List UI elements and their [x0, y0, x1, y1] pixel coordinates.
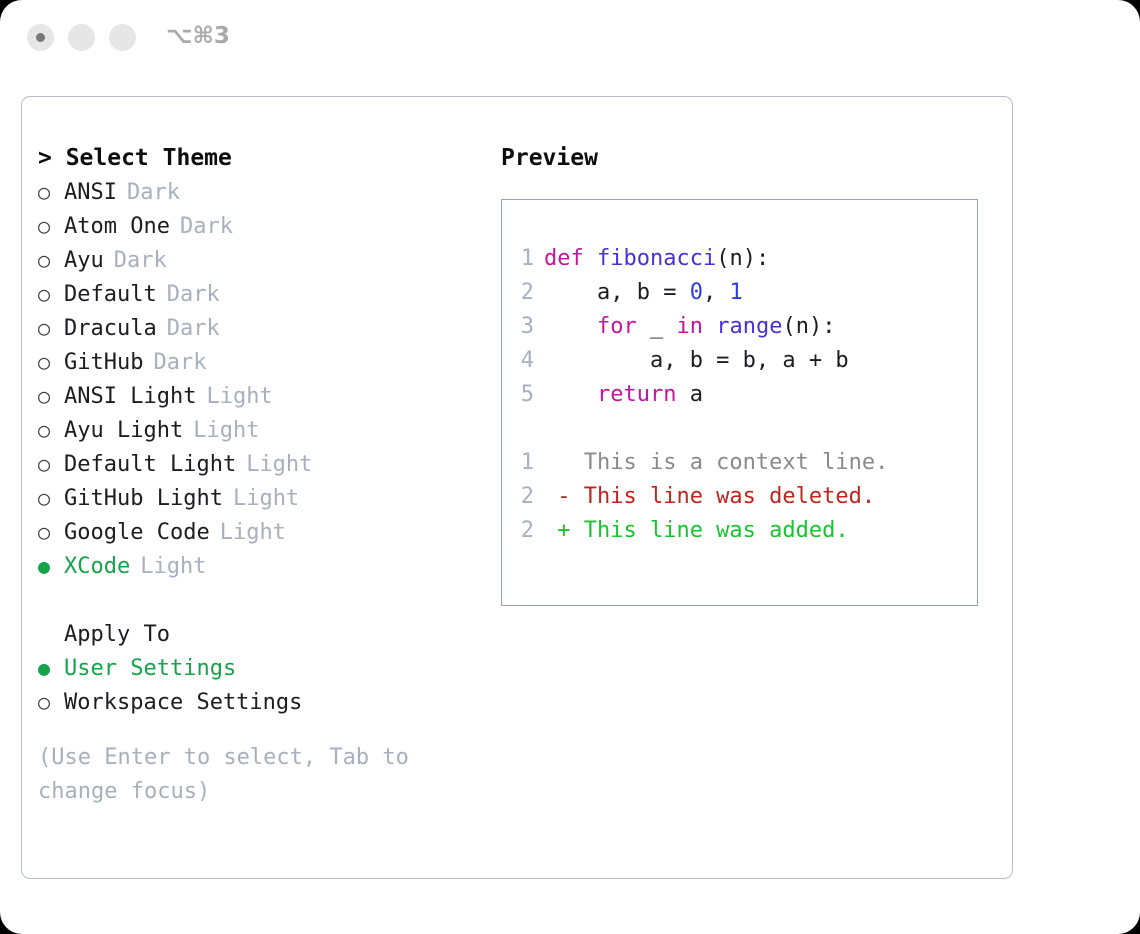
line-number: 2 — [502, 276, 544, 310]
apply-to-label: User Settings — [64, 652, 236, 686]
theme-name-label: GitHub — [64, 346, 143, 380]
code-token-plain: a, b = b, a + b — [544, 348, 849, 373]
line-number: 2 — [502, 514, 544, 548]
theme-category-tag: Dark — [167, 312, 220, 346]
code-token-kw: in — [676, 314, 703, 339]
radio-unselected-icon: ○ — [38, 481, 64, 515]
diff-sample: 1 This is a context line.2 - This line w… — [502, 446, 977, 548]
theme-name-label: Google Code — [64, 516, 210, 550]
code-token-add: + This line was added. — [544, 518, 849, 543]
theme-name-label: Ayu — [64, 244, 104, 278]
theme-category-tag: Dark — [180, 210, 233, 244]
radio-unselected-icon: ○ — [38, 209, 64, 243]
code-token-plain: , — [703, 280, 730, 305]
theme-name-label: ANSI — [64, 176, 117, 210]
code-token-plain: (n): — [782, 314, 835, 339]
code-line-text: a, b = 0, 1 — [544, 276, 743, 310]
apply-to-list-item[interactable]: ●User Settings — [38, 651, 488, 685]
code-token-kw: def — [544, 246, 597, 271]
radio-selected-icon: ● — [38, 651, 64, 685]
code-token-num: 0 — [690, 280, 703, 305]
theme-list-item[interactable]: ○Default LightLight — [38, 447, 488, 481]
code-token-fn: fibonacci — [597, 246, 716, 271]
theme-name-label: ANSI Light — [64, 380, 196, 414]
theme-list-item[interactable]: ○GitHubDark — [38, 345, 488, 379]
theme-settings-card: > Select Theme ○ANSIDark○Atom OneDark○Ay… — [21, 96, 1013, 879]
theme-list: ○ANSIDark○Atom OneDark○AyuDark○DefaultDa… — [38, 175, 488, 583]
code-token-plain: a, b = — [544, 280, 690, 305]
theme-category-tag: Dark — [127, 176, 180, 210]
radio-unselected-icon: ○ — [38, 277, 64, 311]
theme-list-item[interactable]: ○AyuDark — [38, 243, 488, 277]
theme-list-item[interactable]: ○ANSI LightLight — [38, 379, 488, 413]
line-number: 4 — [502, 344, 544, 378]
line-number: 2 — [502, 480, 544, 514]
list-spacer — [38, 583, 488, 617]
theme-list-item[interactable]: ○GitHub LightLight — [38, 481, 488, 515]
traffic-light-buttons — [27, 24, 136, 51]
apply-to-label: Workspace Settings — [64, 686, 302, 720]
theme-list-item[interactable]: ○Google CodeLight — [38, 515, 488, 549]
radio-selected-icon: ● — [38, 549, 64, 583]
theme-list-item[interactable]: ○DraculaDark — [38, 311, 488, 345]
code-token-ctx: This is a context line. — [544, 450, 888, 475]
theme-name-label: Default Light — [64, 448, 236, 482]
code-token-fn: range — [716, 314, 782, 339]
theme-category-tag: Light — [140, 550, 206, 584]
radio-unselected-icon: ○ — [38, 685, 64, 719]
code-token-plain: _ — [637, 314, 677, 339]
radio-unselected-icon: ○ — [38, 311, 64, 345]
diff-line: 2 + This line was added. — [502, 514, 977, 548]
code-token-plain — [544, 382, 597, 407]
apply-to-header-label: Apply To — [64, 618, 170, 652]
keyboard-shortcut-label: ⌥⌘3 — [166, 23, 230, 49]
code-token-kw: for — [597, 314, 637, 339]
code-line-text: a, b = b, a + b — [544, 344, 849, 378]
theme-list-item[interactable]: ○Ayu LightLight — [38, 413, 488, 447]
theme-name-label: Atom One — [64, 210, 170, 244]
theme-name-label: Default — [64, 278, 157, 312]
preview-code-box: 1def fibonacci(n):2 a, b = 0, 13 for _ i… — [501, 199, 978, 606]
apply-to-list: ●User Settings○Workspace Settings — [38, 651, 488, 719]
line-number: 1 — [502, 242, 544, 276]
theme-name-label: Dracula — [64, 312, 157, 346]
code-sample: 1def fibonacci(n):2 a, b = 0, 13 for _ i… — [502, 242, 977, 412]
code-line: 2 a, b = 0, 1 — [502, 276, 977, 310]
close-dot-center — [36, 33, 45, 42]
code-token-plain — [544, 314, 597, 339]
radio-unselected-icon: ○ — [38, 515, 64, 549]
code-token-del: - This line was deleted. — [544, 484, 875, 509]
code-line: 5 return a — [502, 378, 977, 412]
code-token-kw: return — [597, 382, 676, 407]
apply-to-header: ○ Apply To — [38, 617, 488, 651]
theme-category-tag: Dark — [167, 278, 220, 312]
theme-list-item[interactable]: ○ANSIDark — [38, 175, 488, 209]
preview-title: Preview — [501, 141, 1001, 175]
radio-unselected-icon: ○ — [38, 175, 64, 209]
apply-to-list-item[interactable]: ○Workspace Settings — [38, 685, 488, 719]
select-theme-header: > Select Theme — [38, 141, 488, 175]
code-line: 3 for _ in range(n): — [502, 310, 977, 344]
code-line: 1def fibonacci(n): — [502, 242, 977, 276]
code-line-text: + This line was added. — [544, 514, 849, 548]
code-token-plain: (n): — [716, 246, 769, 271]
code-token-plain — [703, 314, 716, 339]
title-bar: ⌥⌘3 — [0, 0, 1140, 78]
theme-category-tag: Light — [233, 482, 299, 516]
apply-to-bullet-placeholder: ○ — [38, 617, 64, 651]
diff-line: 2 - This line was deleted. — [502, 480, 977, 514]
theme-category-tag: Light — [220, 516, 286, 550]
theme-list-item[interactable]: ○DefaultDark — [38, 277, 488, 311]
theme-name-label: GitHub Light — [64, 482, 223, 516]
theme-list-item[interactable]: ●XCodeLight — [38, 549, 488, 583]
diff-line: 1 This is a context line. — [502, 446, 977, 480]
code-line-text: for _ in range(n): — [544, 310, 835, 344]
line-number: 3 — [502, 310, 544, 344]
radio-unselected-icon: ○ — [38, 379, 64, 413]
preview-column: Preview 1def fibonacci(n):2 a, b = 0, 13… — [501, 141, 1001, 606]
code-line: 4 a, b = b, a + b — [502, 344, 977, 378]
line-number: 1 — [502, 446, 544, 480]
theme-category-tag: Dark — [153, 346, 206, 380]
theme-list-item[interactable]: ○Atom OneDark — [38, 209, 488, 243]
line-number: 5 — [502, 378, 544, 412]
radio-unselected-icon: ○ — [38, 243, 64, 277]
radio-unselected-icon: ○ — [38, 447, 64, 481]
theme-name-label: Ayu Light — [64, 414, 183, 448]
code-line-text: - This line was deleted. — [544, 480, 875, 514]
app-window: ⌥⌘3 > Select Theme ○ANSIDark○Atom OneDar… — [0, 0, 1140, 934]
minimize-dot-icon[interactable] — [68, 24, 95, 51]
theme-category-tag: Light — [193, 414, 259, 448]
code-token-plain: a — [676, 382, 703, 407]
zoom-dot-icon[interactable] — [109, 24, 136, 51]
theme-category-tag: Light — [206, 380, 272, 414]
theme-selection-column: > Select Theme ○ANSIDark○Atom OneDark○Ay… — [38, 141, 488, 809]
code-blank-line — [502, 412, 977, 446]
theme-category-tag: Dark — [114, 244, 167, 278]
code-line-text: def fibonacci(n): — [544, 242, 769, 276]
code-line-text: return a — [544, 378, 703, 412]
radio-unselected-icon: ○ — [38, 345, 64, 379]
theme-name-label: XCode — [64, 550, 130, 584]
keyboard-hint-text: (Use Enter to select, Tab to change focu… — [38, 741, 438, 809]
code-line-text: This is a context line. — [544, 446, 888, 480]
close-dot-icon[interactable] — [27, 24, 54, 51]
theme-category-tag: Light — [246, 448, 312, 482]
radio-unselected-icon: ○ — [38, 413, 64, 447]
code-token-num: 1 — [729, 280, 742, 305]
